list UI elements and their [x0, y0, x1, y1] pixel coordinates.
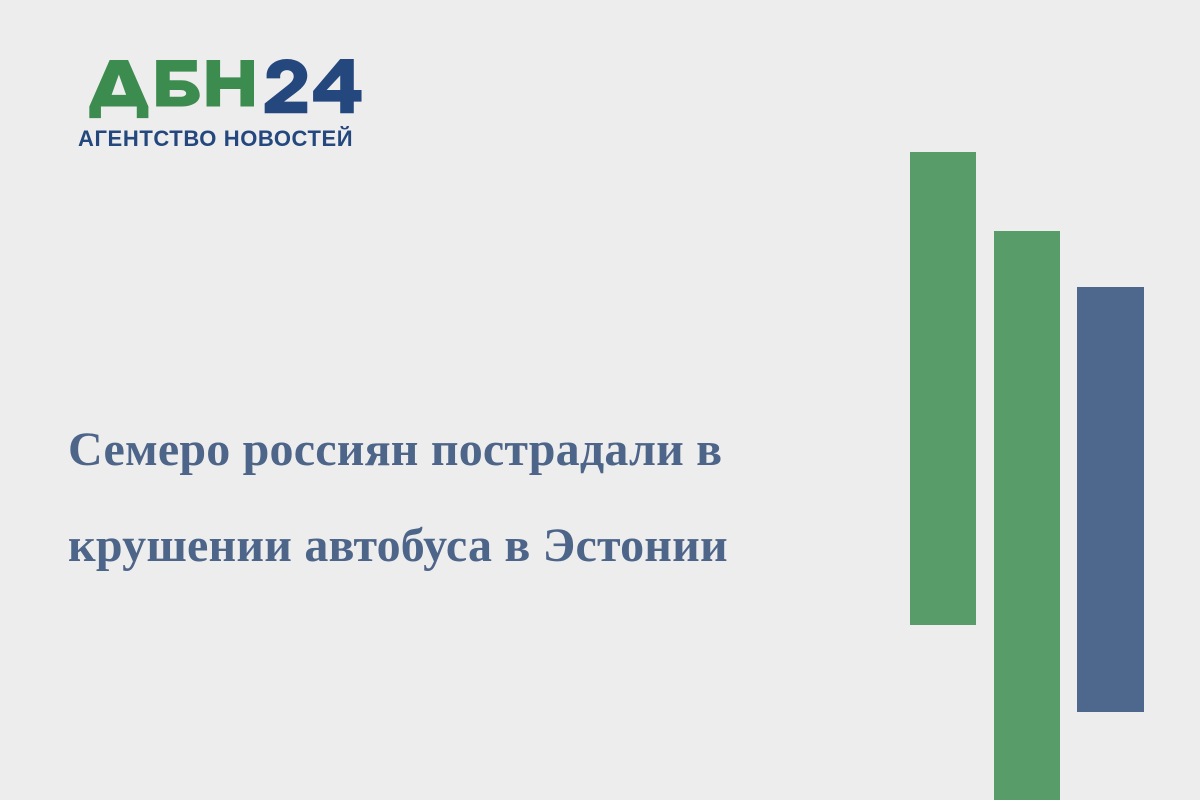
headline-line-2: крушении автобуса в Эстонии — [68, 498, 878, 594]
headline-line-1: Семеро россиян пострадали в — [68, 402, 878, 498]
logo-tagline-text: АГЕНТСТВО НОВОСТЕЙ — [78, 126, 353, 151]
logo-tagline: АГЕНТСТВО НОВОСТЕЙ — [78, 126, 368, 152]
headline: Семеро россиян пострадали в крушении авт… — [68, 402, 878, 594]
chart-bar-2 — [994, 231, 1060, 800]
news-card: АГЕНТСТВО НОВОСТЕЙ Семеро россиян постра… — [0, 0, 1200, 800]
chart-bar-1 — [910, 152, 976, 625]
abn24-logo[interactable]: АГЕНТСТВО НОВОСТЕЙ — [78, 58, 368, 163]
chart-bar-3 — [1077, 287, 1144, 712]
logo-wordmark-icon — [78, 58, 368, 120]
